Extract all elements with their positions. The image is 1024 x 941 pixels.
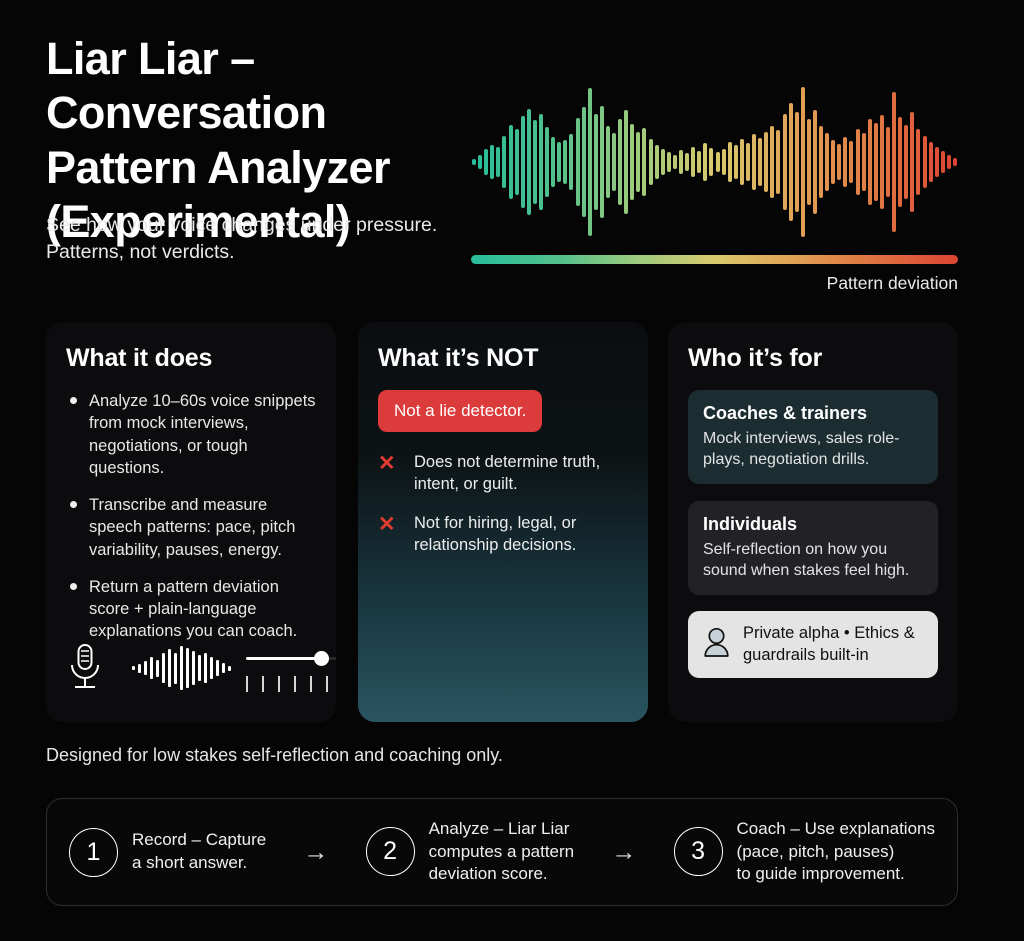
waveform-bar: [697, 151, 701, 173]
what-it-does-bullet-list: Analyze 10–60s voice snippets from mock …: [66, 390, 316, 643]
waveform-bar: [496, 147, 500, 177]
waveform-bar: [813, 110, 817, 214]
audience-individuals: Individuals Self-reflection on how you s…: [688, 501, 938, 595]
waveform-bar: [929, 142, 933, 182]
waveform-bar: [746, 143, 750, 181]
mini-waveform-bar: [162, 653, 165, 683]
waveform-bar: [795, 112, 799, 212]
list-item: Analyze 10–60s voice snippets from mock …: [66, 390, 316, 479]
waveform-bar: [509, 125, 513, 199]
not-a-lie-detector-badge: Not a lie detector.: [378, 390, 542, 432]
step-text: Analyze – Liar Liar computes a pattern d…: [429, 818, 575, 886]
waveform-bar: [862, 133, 866, 191]
waveform-bar: [856, 129, 860, 195]
waveform-bar: [935, 147, 939, 177]
waveform-bar: [740, 139, 744, 185]
mic-controls-row: [66, 638, 318, 698]
waveform-bar: [569, 134, 573, 190]
list-item-label: Does not determine truth, intent, or gui…: [414, 453, 600, 493]
x-cross-icon: ✕: [378, 453, 399, 474]
step-number: 2: [366, 827, 415, 876]
audience-coaches-trainers: Coaches & trainers Mock interviews, sale…: [688, 390, 938, 484]
steps-bar: 1 Record – Capture a short answer. → 2 A…: [46, 798, 958, 906]
waveform-bar: [892, 92, 896, 232]
step-text: Record – Capture a short answer.: [132, 829, 266, 874]
waveform-bar: [770, 126, 774, 198]
waveform-bar: [472, 159, 476, 165]
slider-tick: [294, 676, 296, 692]
waveform-bar: [758, 138, 762, 186]
arrow-right-icon: →: [286, 840, 345, 865]
waveform-bar: [636, 132, 640, 192]
list-item: ✕ Not for hiring, legal, or relationship…: [378, 513, 628, 557]
waveform-bar: [612, 133, 616, 191]
waveform-bar: [819, 126, 823, 198]
waveform-bar: [910, 112, 914, 212]
mini-waveform-bar: [144, 661, 147, 675]
mini-waveform-bar: [174, 653, 177, 684]
person-icon: [703, 627, 730, 663]
waveform-bar: [642, 128, 646, 196]
step-2: 2 Analyze – Liar Liar computes a pattern…: [366, 818, 575, 886]
slider-knob[interactable]: [314, 651, 329, 666]
card-what-its-not: What it’s NOT Not a lie detector. ✕ Does…: [358, 322, 648, 722]
step-1: 1 Record – Capture a short answer.: [69, 828, 266, 877]
step-number: 1: [69, 828, 118, 877]
sensitivity-slider[interactable]: [246, 646, 336, 692]
list-item-label: Not for hiring, legal, or relationship d…: [414, 514, 576, 554]
waveform-bar: [667, 152, 671, 172]
waveform-bar: [752, 134, 756, 190]
waveform-bar: [649, 139, 653, 185]
step-text: Coach – Use explanations (pace, pitch, p…: [737, 818, 935, 886]
waveform-bar: [874, 123, 878, 201]
waveform-bar: [947, 155, 951, 169]
waveform-bar: [606, 126, 610, 198]
what-its-not-list: ✕ Does not determine truth, intent, or g…: [378, 452, 628, 557]
waveform-bar: [807, 119, 811, 205]
waveform-bar: [722, 149, 726, 175]
card-what-its-not-title: What it’s NOT: [378, 344, 628, 373]
waveform-bar: [923, 136, 927, 188]
card-who-its-for-title: Who it’s for: [688, 344, 938, 373]
designed-for-note: Designed for low stakes self-reflection …: [46, 745, 503, 766]
mini-waveform-bar: [132, 666, 135, 670]
waveform-bar: [764, 132, 768, 192]
card-what-it-does-title: What it does: [66, 344, 316, 373]
waveform-bar: [831, 140, 835, 184]
waveform-bar: [691, 147, 695, 177]
waveform-bar: [685, 153, 689, 171]
card-what-it-does: What it does Analyze 10–60s voice snippe…: [46, 322, 336, 722]
mini-waveform-bar: [198, 655, 201, 681]
list-item: Return a pattern deviation score + plain…: [66, 576, 316, 643]
waveform-bar: [484, 149, 488, 175]
waveform-bar: [551, 137, 555, 187]
waveform-bar: [837, 144, 841, 180]
step-3: 3 Coach – Use explanations (pace, pitch,…: [674, 818, 935, 886]
private-alpha-badge-label: Private alpha • Ethics & guardrails buil…: [743, 623, 923, 666]
waveform-bar: [557, 142, 561, 182]
waveform-bar: [594, 114, 598, 210]
mini-waveform-bar: [216, 660, 219, 676]
list-item: ✕ Does not determine truth, intent, or g…: [378, 452, 628, 496]
step-number: 3: [674, 827, 723, 876]
mini-waveform-bar: [168, 649, 171, 687]
waveform-bar: [734, 145, 738, 179]
audience-desc: Self-reflection on how you sound when st…: [703, 539, 923, 581]
waveform-bar: [728, 142, 732, 182]
waveform-bar: [679, 150, 683, 174]
waveform-visualization: [471, 84, 958, 239]
arrow-right-icon: →: [594, 840, 653, 865]
mini-waveform-bar: [186, 648, 189, 688]
waveform-bar: [655, 145, 659, 179]
mini-waveform-bar: [204, 653, 207, 683]
waveform-bar: [776, 130, 780, 194]
waveform-bar: [563, 140, 567, 184]
waveform-bar: [801, 87, 805, 237]
waveform-bars: [471, 84, 958, 239]
waveform-bar: [868, 119, 872, 205]
waveform-bar: [588, 88, 592, 236]
waveform-bar: [783, 114, 787, 210]
audience-name: Individuals: [703, 514, 923, 535]
waveform-bar: [703, 143, 707, 181]
poster-root: Liar Liar – Conversation Pattern Analyze…: [0, 0, 1024, 941]
slider-tick: [326, 676, 328, 692]
waveform-bar: [630, 124, 634, 200]
slider-tick: [262, 676, 264, 692]
waveform-bar: [600, 106, 604, 218]
waveform-bar: [478, 155, 482, 169]
mini-waveform-bar: [222, 663, 225, 673]
waveform-bar: [624, 110, 628, 214]
waveform-bar: [941, 151, 945, 173]
waveform-bar: [618, 119, 622, 205]
waveform-bar: [849, 141, 853, 183]
waveform-bar: [789, 103, 793, 221]
slider-fill: [246, 657, 322, 660]
waveform-bar: [825, 133, 829, 191]
waveform-bar: [527, 109, 531, 215]
mini-waveform-bar: [180, 646, 183, 690]
list-item: Transcribe and measure speech patterns: …: [66, 494, 316, 561]
audience-name: Coaches & trainers: [703, 403, 923, 424]
waveform-bar: [709, 148, 713, 176]
slider-ticks: [246, 676, 336, 692]
private-alpha-badge: Private alpha • Ethics & guardrails buil…: [688, 611, 938, 678]
waveform-bar: [539, 114, 543, 210]
mini-waveform-bar: [210, 657, 213, 679]
waveform-bar: [953, 158, 957, 166]
waveform-bar: [515, 129, 519, 195]
waveform-bar: [904, 125, 908, 199]
waveform-bar: [533, 120, 537, 204]
waveform-bar: [916, 129, 920, 195]
pattern-deviation-label: Pattern deviation: [471, 273, 958, 294]
mini-waveform-icon: [132, 644, 232, 692]
slider-tick: [246, 676, 248, 692]
mini-waveform-bar: [192, 651, 195, 685]
waveform-bar: [673, 155, 677, 169]
audience-desc: Mock interviews, sales role-plays, negot…: [703, 428, 923, 470]
waveform-bar: [521, 116, 525, 208]
mini-waveform-bar: [156, 660, 159, 677]
waveform-bar: [582, 107, 586, 217]
waveform-bar: [576, 118, 580, 206]
waveform-bar: [886, 127, 890, 197]
waveform-bar: [716, 152, 720, 172]
waveform-bar: [843, 137, 847, 187]
mini-waveform-bar: [228, 666, 231, 671]
mini-waveform-bar: [138, 664, 141, 673]
slider-tick: [310, 676, 312, 692]
waveform-bar: [880, 115, 884, 209]
page-subtitle: See how your voice changes under pressur…: [46, 212, 446, 267]
card-who-its-for: Who it’s for Coaches & trainers Mock int…: [668, 322, 958, 722]
waveform-bar: [545, 127, 549, 197]
mini-waveform-bar: [150, 657, 153, 679]
waveform-bar: [898, 117, 902, 207]
waveform-bar: [502, 136, 506, 188]
waveform-bar: [490, 145, 494, 179]
slider-tick: [278, 676, 280, 692]
pattern-deviation-gradient-bar: [471, 255, 958, 264]
waveform-bar: [661, 149, 665, 175]
x-cross-icon: ✕: [378, 514, 399, 535]
